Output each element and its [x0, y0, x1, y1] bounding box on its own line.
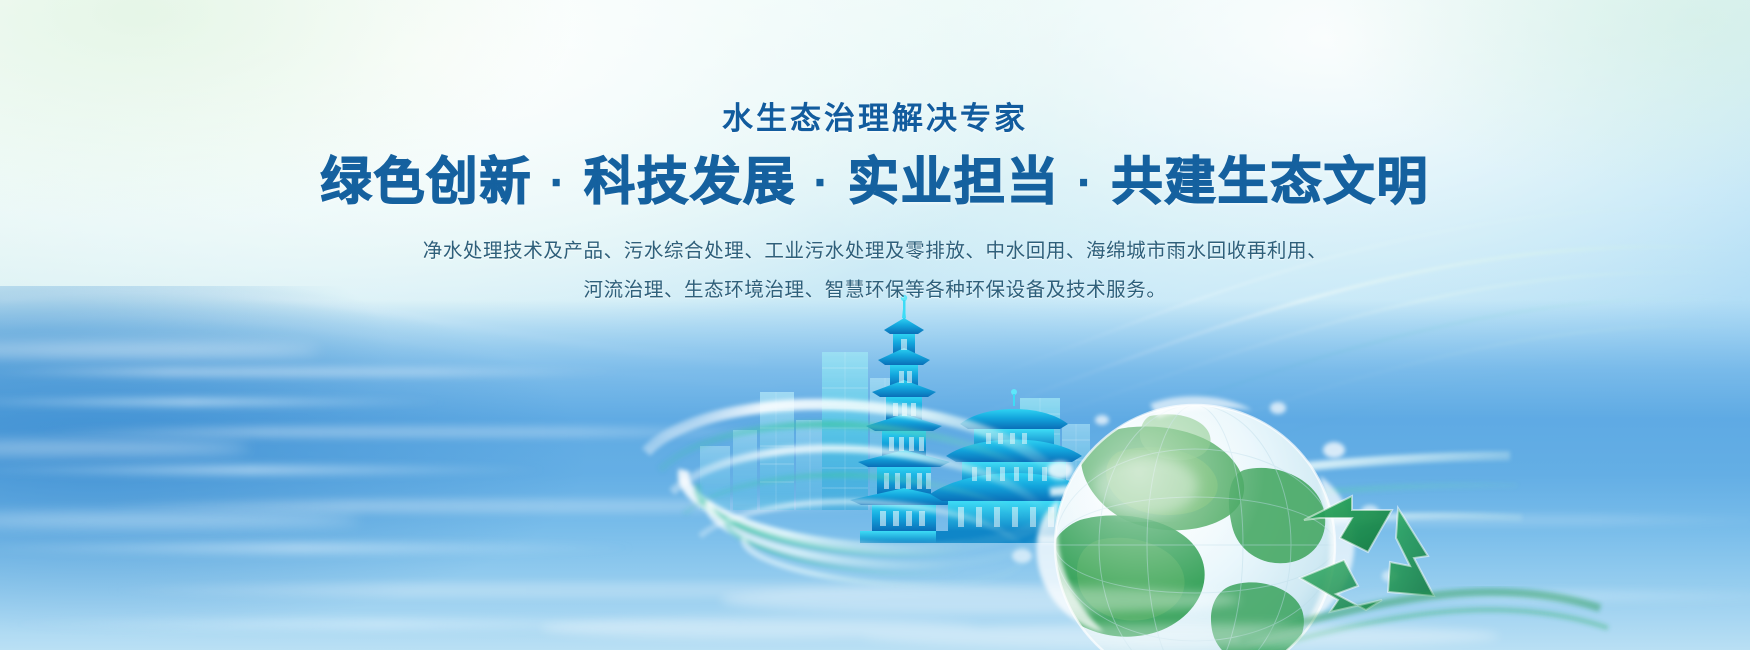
foreground-foam	[0, 0, 1750, 650]
eco-water-banner: 水生态治理解决专家 绿色创新 · 科技发展 · 实业担当 · 共建生态文明 净水…	[0, 0, 1750, 650]
headline-separator-2: ·	[812, 161, 831, 205]
headline-part-4: 共建生态文明	[1112, 153, 1430, 210]
banner-headline: 绿色创新 · 科技发展 · 实业担当 · 共建生态文明	[0, 151, 1750, 212]
headline-separator-3: ·	[1076, 161, 1095, 205]
headline-part-2: 科技发展	[584, 153, 796, 210]
subtitle-line-1: 净水处理技术及产品、污水综合处理、工业污水处理及零排放、中水回用、海绵城市雨水回…	[0, 232, 1750, 271]
banner-subtitle: 净水处理技术及产品、污水综合处理、工业污水处理及零排放、中水回用、海绵城市雨水回…	[0, 232, 1750, 310]
subtitle-line-2: 河流治理、生态环境治理、智慧环保等各种环保设备及技术服务。	[0, 271, 1750, 310]
banner-eyebrow: 水生态治理解决专家	[0, 100, 1750, 139]
headline-separator-1: ·	[549, 161, 568, 205]
headline-part-3: 实业担当	[848, 153, 1060, 210]
banner-text-block: 水生态治理解决专家 绿色创新 · 科技发展 · 实业担当 · 共建生态文明 净水…	[0, 100, 1750, 310]
headline-part-1: 绿色创新	[320, 153, 532, 210]
